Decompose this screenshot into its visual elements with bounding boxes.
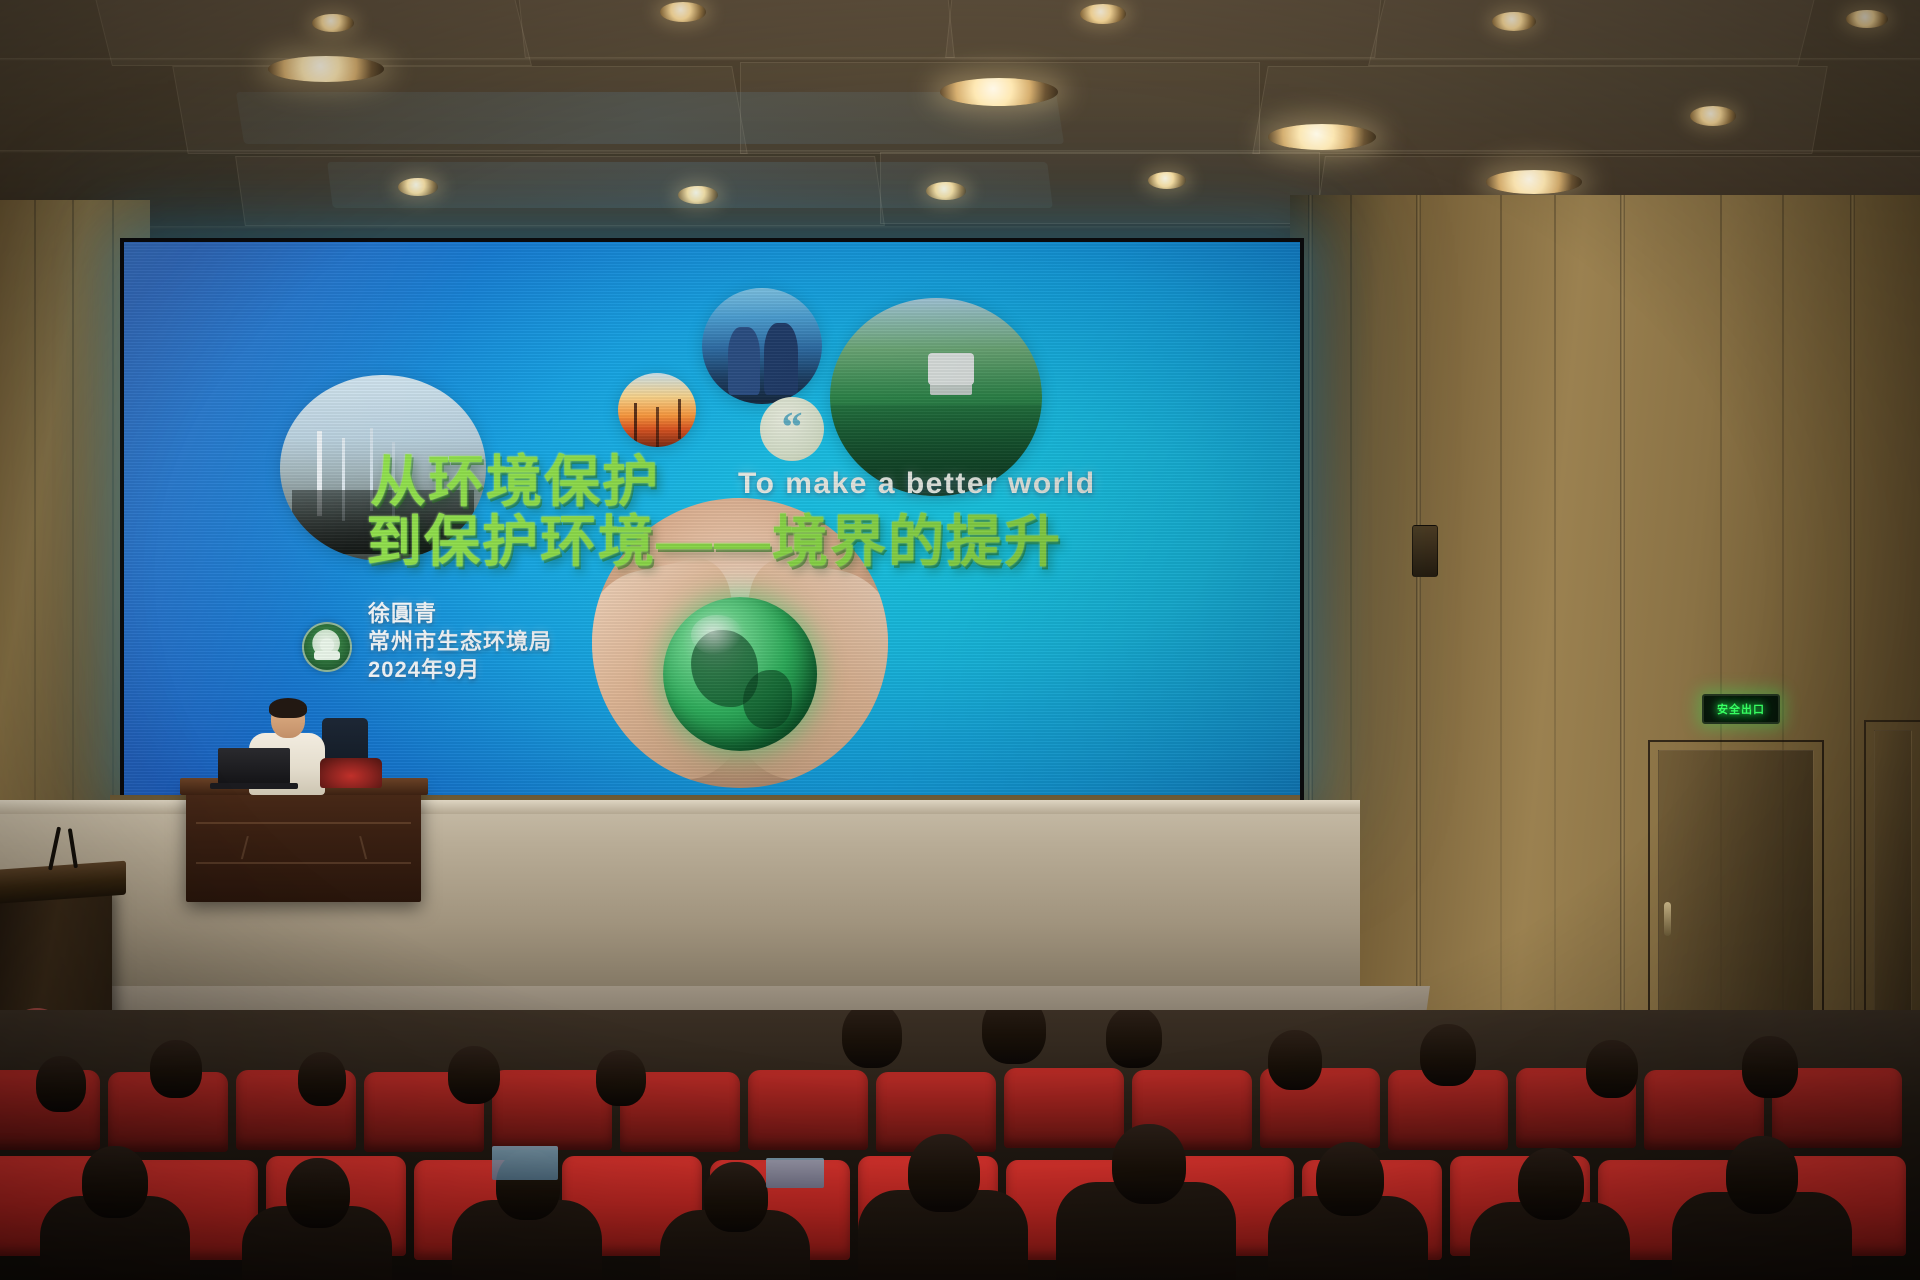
audience-member-head — [448, 1046, 500, 1104]
audience-member-head — [1420, 1024, 1476, 1086]
audience-member-head — [286, 1158, 350, 1228]
audience-laptop-screen — [492, 1146, 558, 1180]
globe-highlight — [691, 615, 743, 655]
audience-member-head — [1106, 1010, 1162, 1068]
audience-member-head — [1742, 1036, 1798, 1098]
audience-member-head — [1586, 1040, 1638, 1098]
audience-seat — [492, 1070, 612, 1150]
slide-subtitle-english: To make a better world — [738, 467, 1096, 501]
audience-member-head — [1268, 1030, 1322, 1090]
audience-member-head — [1316, 1142, 1384, 1216]
audience-member-head — [82, 1146, 148, 1218]
audience-member-head — [150, 1040, 202, 1098]
emergency-exit-sign: 安全出口 — [1702, 694, 1780, 724]
photo-bubble-sunset-wetland — [618, 373, 696, 447]
desk-ornament — [241, 836, 367, 859]
wall-speaker-icon — [1412, 525, 1438, 577]
audience-member-head — [842, 1010, 902, 1068]
organization-seal-logo — [302, 622, 352, 672]
green-globe — [663, 597, 817, 751]
flower-arrangement — [320, 758, 382, 788]
ceiling-light — [940, 78, 1058, 106]
audience-member-head — [298, 1052, 346, 1106]
lecture-hall-scene: 安全出口 “ 从环境保护 — [0, 0, 1920, 1280]
speaker-hair — [269, 698, 307, 718]
ceiling-light — [926, 182, 966, 200]
audience-member-head — [36, 1056, 86, 1112]
presenter-credit-block: 徐圓青 常州市生态环境局 2024年9月 — [368, 600, 552, 684]
ceiling-light — [268, 56, 384, 82]
ceiling-light — [1492, 12, 1536, 31]
speaker-desk — [186, 786, 421, 902]
audience-member-head — [982, 1010, 1046, 1064]
right-wall — [1290, 195, 1920, 1075]
ceiling-light — [1486, 170, 1582, 194]
ceiling-light — [1148, 172, 1186, 189]
audience-laptop-screen — [766, 1158, 824, 1188]
audience-area — [0, 1010, 1920, 1280]
ceiling-light — [1080, 4, 1126, 24]
presentation-date: 2024年9月 — [368, 656, 552, 684]
ceiling-light — [660, 2, 706, 22]
quote-mark-glyph: “ — [782, 416, 803, 441]
audience-member-head — [908, 1134, 980, 1212]
audience-seat — [1004, 1068, 1124, 1148]
ceiling-light — [312, 14, 354, 32]
presenter-organization: 常州市生态环境局 — [368, 628, 552, 656]
photo-bubble-field-inspectors — [702, 288, 822, 404]
audience-member-head — [1518, 1148, 1584, 1220]
presenter-name: 徐圓青 — [368, 600, 552, 628]
ceiling-light — [398, 178, 438, 196]
presenter-laptop[interactable] — [218, 748, 290, 784]
audience-member-head — [704, 1162, 768, 1232]
slide-title-line-2: 到保护环境——境界的提升 — [366, 497, 1062, 578]
ceiling-light — [1690, 106, 1736, 126]
audience-seat — [748, 1070, 868, 1150]
door-handle[interactable] — [1664, 902, 1671, 936]
audience-member-head — [596, 1050, 646, 1106]
audience-member-head — [1112, 1124, 1186, 1204]
quote-mark-circle: “ — [760, 397, 824, 461]
exit-sign-label: 安全出口 — [1717, 701, 1765, 717]
ceiling-light — [1268, 124, 1376, 150]
ceiling-light — [678, 186, 718, 204]
audience-member-head — [1726, 1136, 1798, 1214]
ceiling-light — [1846, 10, 1888, 28]
